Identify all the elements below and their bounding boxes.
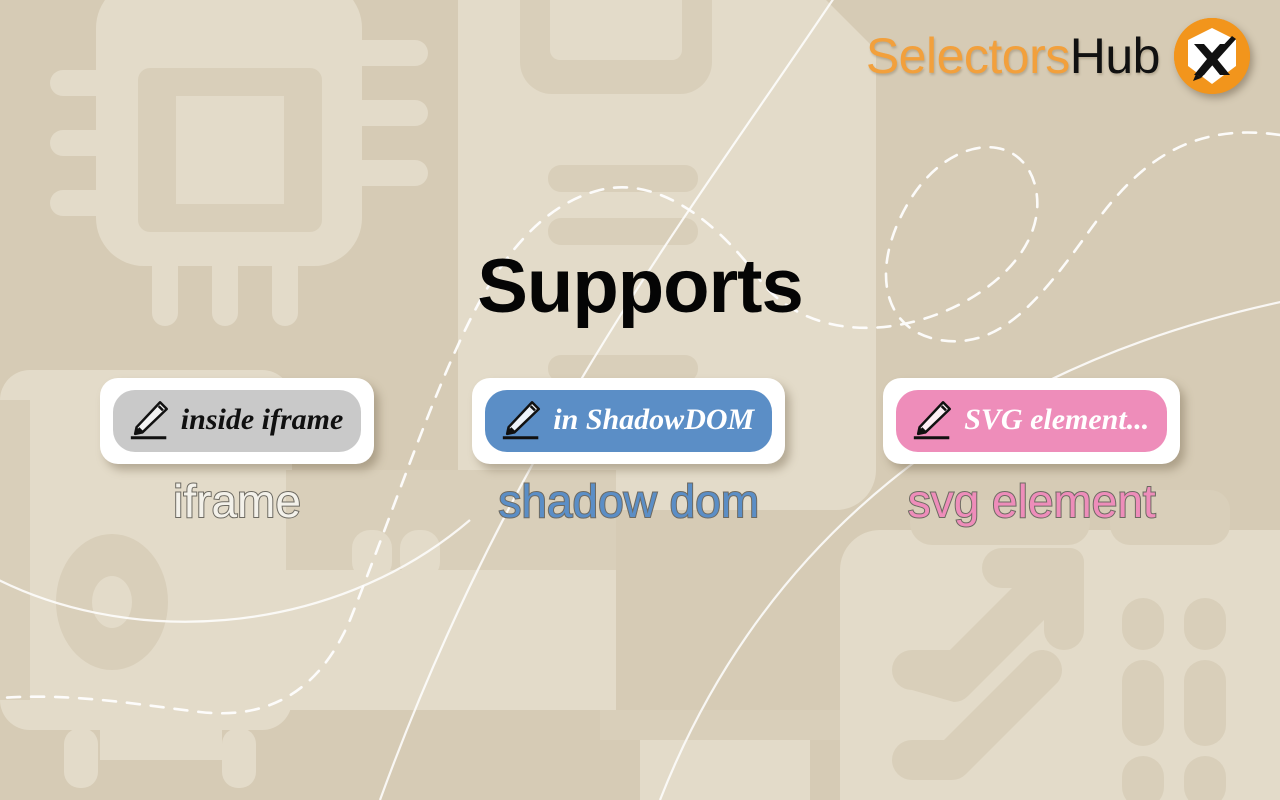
- iframe-pill-label: inside iframe: [181, 405, 344, 435]
- shadow-dom-caption: shadow dom: [498, 476, 759, 527]
- svg-element-pill-label: SVG element...: [964, 405, 1149, 435]
- svg-element-pill-button[interactable]: SVG element...: [896, 390, 1167, 452]
- page-title: Supports: [0, 243, 1280, 330]
- supports-card-row: inside iframe iframe in ShadowDOM: [0, 378, 1280, 527]
- brand-logo: SelectorsHub: [866, 18, 1250, 94]
- support-item-iframe: inside iframe iframe: [100, 378, 375, 527]
- iframe-pill-button[interactable]: inside iframe: [113, 390, 362, 452]
- pencil-icon: [910, 397, 956, 443]
- support-item-svg-element: SVG element... svg element: [883, 378, 1180, 527]
- support-item-shadow-dom: in ShadowDOM shadow dom: [472, 378, 785, 527]
- selectorshub-x-logo-icon: [1174, 18, 1250, 94]
- brand-word-primary: Selectors: [866, 28, 1070, 84]
- pencil-icon: [127, 397, 173, 443]
- iframe-card[interactable]: inside iframe: [100, 378, 375, 464]
- shadow-dom-pill-button[interactable]: in ShadowDOM: [485, 390, 772, 452]
- dots-icon: [1122, 598, 1226, 800]
- brand-wordmark: SelectorsHub: [866, 31, 1160, 81]
- shadow-dom-pill-label: in ShadowDOM: [553, 405, 754, 435]
- svg-element-card[interactable]: SVG element...: [883, 378, 1180, 464]
- svg-element-caption: svg element: [908, 476, 1156, 527]
- pencil-icon: [499, 397, 545, 443]
- chart-arrow-icon: [840, 490, 1280, 800]
- iframe-caption: iframe: [173, 476, 301, 527]
- brand-word-secondary: Hub: [1070, 28, 1160, 84]
- shadow-dom-card[interactable]: in ShadowDOM: [472, 378, 785, 464]
